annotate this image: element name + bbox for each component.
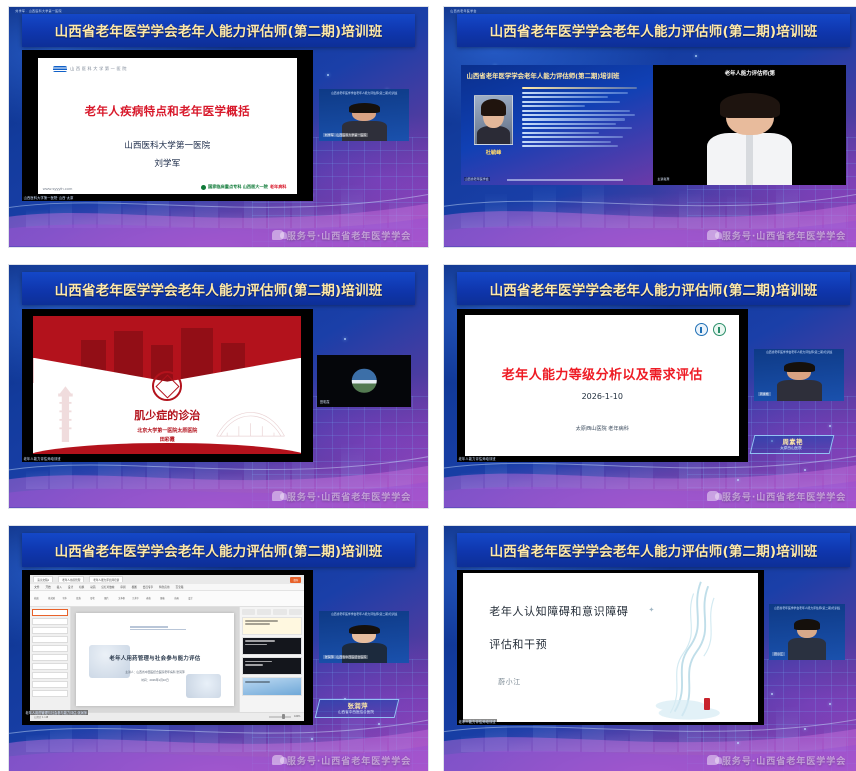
screen-share-label: 山西省老年医学会	[464, 177, 490, 181]
ribbon-button[interactable]: 设计	[188, 596, 195, 600]
slide-speaker: 刘学军	[38, 157, 297, 169]
presentation-slide: ✦ 老年人认知障碍和意识障碍 评估和干预 蔚小江	[463, 573, 758, 722]
camera-column[interactable]: 山西省老年医学学会老年人能力评估师(第二期)培训班 刘学军 · 山西医科大学第一…	[313, 50, 415, 201]
watermark: 服务号·山西省老年医学学会	[707, 229, 846, 242]
panel-banner: 山西省老年医学学会老年人能力评估师(第二期)培训班	[22, 533, 416, 566]
ppt-template-card[interactable]	[242, 637, 303, 655]
side-panel-tab[interactable]	[242, 609, 256, 615]
badge-org: 太原西山医院	[752, 446, 830, 451]
ppt-thumbnail[interactable]	[32, 618, 68, 625]
hair-shape	[349, 103, 380, 113]
ppt-menu-item[interactable]: 文件	[34, 585, 39, 589]
hospital-seal-icon	[152, 371, 182, 401]
screen-share-label: 老年人用药管理与社会参与能力评估 张润萍	[24, 710, 87, 715]
ppt-side-panel-header[interactable]	[242, 609, 303, 615]
torso-shape	[342, 121, 387, 141]
presentation-slide: 肌少症的诊治 北京大学第一医院太原医院 田彩霞	[33, 316, 301, 454]
ribbon-label: 格式刷	[48, 598, 55, 600]
panel-banner-text: 山西省老年医学学会老年人能力评估师(第二期)培训班	[55, 540, 383, 560]
presentation-slide: 山西医科大学第一医院 老年人疾病特点和老年医学概括 山西医科大学第一医院 刘学军…	[38, 58, 297, 194]
ppt-side-panel[interactable]	[239, 607, 305, 712]
ribbon-label: 字体	[62, 598, 66, 600]
participant-figure	[707, 96, 792, 185]
ribbon-button[interactable]: 表格	[146, 596, 153, 600]
ppt-menu-item[interactable]: 切换	[79, 585, 84, 589]
presentation-slide: 老年人能力等级分析以及需求评估 2026-1-10 太原西山医院 老年病科	[465, 315, 739, 456]
watermark: 服务号·山西省老年医学学会	[272, 229, 411, 242]
slide-header-org: 山西医科大学第一医院	[70, 66, 128, 72]
ppt-current-slide[interactable]: 老年人用药管理与社会参与能力评估 主讲人：山西省中西医结合医院老年病科 张润萍 …	[76, 613, 233, 705]
chat-bubble-icon	[707, 491, 719, 501]
ribbon-label: 动画	[174, 598, 178, 600]
ribbon-label: 粘贴	[34, 598, 38, 600]
screen-share-label: 山西医科大学第一医院·山西·太原	[23, 195, 75, 200]
torso-shape	[777, 380, 822, 400]
badge-name: 周素艳	[754, 437, 832, 446]
side-panel-tab[interactable]	[257, 609, 271, 615]
speaker-name: 杜毓峰	[472, 149, 514, 156]
camera-tile[interactable]: 山西省老年医学学会老年人能力评估师(第二期)培训班 刘学军 · 山西医科大学第一…	[313, 50, 415, 201]
panel-banner: 山西省老年医学学会老年人能力评估师(第二期)培训班	[22, 14, 416, 46]
ppt-menu-item[interactable]: 插入	[57, 585, 62, 589]
ppt-menu-item[interactable]: 百宝箱	[176, 585, 184, 589]
session-panel-2[interactable]: 山西省老年医学会 山西省老年医学学会老年人能力评估师(第二期)培训班 山西省老年…	[443, 6, 856, 248]
participant-figure	[776, 363, 823, 400]
ppt-thumbnail[interactable]	[32, 690, 68, 697]
side-panel-tab[interactable]	[273, 609, 287, 615]
ppt-template-card[interactable]	[242, 677, 303, 695]
card-text	[245, 681, 284, 684]
slide-speaker: 蔚小江	[498, 677, 521, 687]
session-panel-3[interactable]: 山西省老年医学学会老年人能力评估师(第二期)培训班	[8, 264, 429, 509]
ribbon-button[interactable]: 图表	[160, 596, 167, 600]
panel-banner: 山西省老年医学学会老年人能力评估师(第二期)培训班	[457, 14, 851, 46]
ppt-tab[interactable]: 老年人能力评估师培训	[89, 576, 123, 582]
ppt-thumbnail[interactable]	[32, 609, 68, 616]
camera-column[interactable]: 田彩霞	[313, 309, 415, 462]
screen-share-label: 老年人能力评估师培训班	[458, 719, 497, 724]
slide-title: 老年人能力等级分析以及需求评估	[465, 364, 739, 383]
video-name-tag: 田彩霞	[320, 399, 330, 404]
watermark-text: 服务号·山西省老年医学学会	[722, 754, 846, 767]
video-name-tag: 刘学军 · 山西医科大学第一医院	[323, 133, 369, 137]
slide-footer-credit-red: 老年病科	[270, 184, 287, 190]
ribbon-label: 表格	[146, 598, 150, 600]
panel-banner-text: 山西省老年医学学会老年人能力评估师(第二期)培训班	[55, 20, 383, 40]
video-caption: 山西省老年医学学会老年人能力评估师(第二期)培训班	[319, 91, 409, 95]
screen-share-label: 老年人能力评估师培训班	[23, 456, 62, 461]
ribbon-button[interactable]: 粘贴	[34, 596, 41, 600]
slide-footer-site: www.syyyfn.com	[43, 186, 73, 191]
watermark: 服务号·山西省老年医学学会	[272, 490, 411, 503]
ppt-tab[interactable]: 演示文稿1	[33, 576, 53, 582]
powerpoint-window[interactable]: 演示文稿1 老年人用药管理 老年人能力评估师培训 文件 开始 插入 设计 切换 …	[30, 575, 304, 721]
watermark: 服务号·山西省老年医学学会	[272, 754, 411, 767]
panel-banner: 山西省老年医学学会老年人能力评估师(第二期)培训班	[457, 272, 851, 305]
session-panel-4[interactable]: 山西省老年医学学会老年人能力评估师(第二期)培训班 老年人能力等级分析以及需求评…	[443, 264, 856, 509]
watermark-text: 服务号·山西省老年医学学会	[287, 229, 411, 242]
ppt-template-card[interactable]	[242, 617, 303, 635]
lab-coat-shape	[707, 133, 792, 185]
ppt-app[interactable]: 演示文稿1 老年人用药管理 老年人能力评估师培训 文件 开始 插入 设计 切换 …	[30, 575, 304, 721]
ppt-thumbnail[interactable]	[32, 627, 68, 634]
video-name-tag: 蔚小江	[772, 652, 785, 656]
slide-date: 时间：2026年1月10日	[76, 678, 233, 682]
hair-shape	[349, 625, 380, 635]
slide-org: 太原西山医院 老年病科	[465, 425, 739, 432]
chat-bubble-icon	[707, 755, 719, 765]
ppt-menu-item[interactable]: 幻灯片放映	[101, 585, 114, 589]
watermark-text: 服务号·山西省老年医学学会	[722, 229, 846, 242]
participant-avatar	[352, 368, 376, 392]
ribbon-button[interactable]: 动画	[174, 596, 181, 600]
panel-banner: 山西省老年医学学会老年人能力评估师(第二期)培训班	[22, 272, 416, 305]
watermark-text: 服务号·山西省老年医学学会	[722, 490, 846, 503]
ribbon-button[interactable]: 图片	[104, 596, 111, 600]
screen-share-label: 老年人能力评估师培训班	[458, 456, 497, 461]
ribbon-button[interactable]: 形状	[90, 596, 97, 600]
panel-banner-text: 山西省老年医学学会老年人能力评估师(第二期)培训班	[490, 20, 818, 40]
panel-banner-text: 山西省老年医学学会老年人能力评估师(第二期)培训班	[490, 279, 818, 299]
water-ink-illustration	[592, 576, 757, 722]
ribbon-label: 艺术字	[132, 598, 139, 600]
hair-shape	[720, 93, 779, 118]
video-caption: 老年人能力评估师(第	[653, 69, 846, 77]
slide-date: 2026-1-10	[465, 392, 739, 401]
speaker-name-badge: 周素艳 太原西山医院	[750, 435, 835, 454]
ribbon-button[interactable]: 格式刷	[48, 596, 55, 600]
speaker-photo	[474, 95, 513, 145]
shared-screen[interactable]: 演示文稿1 老年人用药管理 老年人能力评估师培训 文件 开始 插入 设计 切换 …	[22, 570, 313, 725]
ribbon-label: 段落	[76, 598, 80, 600]
ribbon-button[interactable]: 段落	[76, 596, 83, 600]
panel-banner-text: 山西省老年医学学会老年人能力评估师(第二期)培训班	[490, 540, 818, 560]
camera-tile[interactable]: 山西省老年医学学会老年人能力评估师(第二期)培训班 蔚小江	[764, 570, 851, 725]
camera-column[interactable]: 老年人能力评估师(第 主讲嘉宾	[653, 65, 846, 185]
panel-grid: 刘学军 · 山西医科大学第一医院 山西省老年医学学会老年人能力评估师(第二期)培…	[0, 0, 856, 771]
photo-torso	[477, 126, 509, 144]
slide-logos	[695, 323, 726, 336]
panel-banner: 山西省老年医学学会老年人能力评估师(第二期)培训班	[457, 533, 851, 566]
shared-screen[interactable]: 肌少症的诊治 北京大学第一医院太原医院 田彩霞 老年人能力评估师培训班	[22, 309, 313, 462]
ppt-slide-thumbnails[interactable]	[30, 607, 71, 712]
intro-slide-title: 山西省老年医学学会老年人能力评估师(第二期)培训班	[467, 71, 648, 80]
camera-column[interactable]: 山西省老年医学学会老年人能力评估师(第二期)培训班 蔚小江	[764, 570, 851, 725]
card-text	[245, 620, 284, 626]
video-feed[interactable]: 山西省老年医学学会老年人能力评估师(第二期)培训班 周素艳	[754, 349, 844, 401]
video-feed[interactable]: 山西省老年医学学会老年人能力评估师(第二期)培训班 张润萍 · 山西省中西医结合…	[319, 611, 409, 664]
ppt-thumbnail[interactable]	[32, 672, 68, 679]
ppt-ribbon[interactable]: 粘贴 格式刷 字体 段落 形状 图片 文本框 艺术字 表格 图表 动画 设计	[30, 591, 304, 607]
speaker-name-badge: 张润萍 山西省中西医结合医院	[315, 699, 400, 718]
panel-stage: ✦ 老年人认知障碍和意识障碍 评估和干预 蔚小江 老年人能力评估师培训班 山西省…	[457, 570, 851, 725]
slide-org: 山西医科大学第一医院	[38, 139, 297, 151]
ribbon-label: 图片	[104, 598, 108, 600]
video-caption: 山西省老年医学学会老年人能力评估师(第二期)培训班	[754, 350, 844, 354]
slide-org: 北京大学第一医院太原医院	[33, 427, 301, 434]
panel-corner-tag: 刘学军 · 山西医科大学第一医院	[15, 9, 61, 13]
session-panel-1[interactable]: 刘学军 · 山西医科大学第一医院 山西省老年医学学会老年人能力评估师(第二期)培…	[8, 6, 429, 248]
slide-title-line1: 老年人认知障碍和意识障碍	[489, 603, 628, 619]
slide-title: 肌少症的诊治	[33, 407, 301, 423]
ppt-tab-bar[interactable]: 演示文稿1 老年人用药管理 老年人能力评估师培训	[30, 575, 304, 584]
panel-stage: 老年人能力等级分析以及需求评估 2026-1-10 太原西山医院 老年病科 老年…	[457, 309, 851, 462]
video-name-tag: 周素艳	[758, 392, 771, 396]
ppt-thumbnail[interactable]	[32, 663, 68, 670]
panel-stage: 山西医科大学第一医院 老年人疾病特点和老年医学概括 山西医科大学第一医院 刘学军…	[22, 50, 416, 201]
ppt-thumbnail[interactable]	[32, 654, 68, 661]
ppt-menu-item[interactable]: 开始	[45, 585, 50, 589]
shared-screen[interactable]: ✦ 老年人认知障碍和意识障碍 评估和干预 蔚小江 老年人能力评估师培训班	[457, 570, 764, 725]
participant-figure	[787, 620, 827, 660]
ribbon-label: 图表	[160, 598, 164, 600]
hair-shape	[794, 619, 820, 629]
ribbon-label: 文本框	[118, 598, 125, 600]
slide-presenter: 主讲人：山西省中西医结合医院老年病科 张润萍	[76, 670, 233, 674]
panel-banner-text: 山西省老年医学学会老年人能力评估师(第二期)培训班	[55, 279, 383, 299]
slide-title: 老年人疾病特点和老年医学概括	[38, 103, 297, 119]
ppt-save-button[interactable]: 保存	[290, 577, 301, 583]
ribbon-button[interactable]: 字体	[62, 596, 69, 600]
ribbon-label: 形状	[90, 598, 94, 600]
panel-stage: 肌少症的诊治 北京大学第一医院太原医院 田彩霞 老年人能力评估师培训班 田彩霞	[22, 309, 416, 462]
card-text	[245, 640, 284, 646]
session-panel-6[interactable]: 山西省老年医学学会老年人能力评估师(第二期)培训班	[443, 525, 856, 771]
ppt-menu-item[interactable]: 设计	[68, 585, 73, 589]
watermark: 服务号·山西省老年医学学会	[707, 490, 846, 503]
ribbon-label: 设计	[188, 598, 192, 600]
slide-logo-header	[130, 626, 193, 633]
society-logo-icon	[713, 323, 726, 336]
ppt-template-card[interactable]	[242, 657, 303, 675]
badge-org: 山西省中西医结合医院	[317, 710, 395, 715]
shared-screen[interactable]: 老年人能力等级分析以及需求评估 2026-1-10 太原西山医院 老年病科 老年…	[457, 309, 748, 462]
cognition-slide: ✦ 老年人认知障碍和意识障碍 评估和干预 蔚小江	[463, 573, 758, 722]
seal-icon	[201, 185, 206, 190]
seal-icon	[704, 698, 710, 710]
shared-screen[interactable]: 山西省老年医学学会老年人能力评估师(第二期)培训班 杜毓峰	[461, 65, 654, 185]
zoom-slider[interactable]	[269, 716, 291, 718]
badge-name: 张润萍	[319, 701, 397, 710]
ppt-menu-item[interactable]: 审阅	[120, 585, 125, 589]
slide-title-line2: 评估和干预	[489, 636, 547, 652]
hospital-logo-icon	[695, 323, 708, 336]
chat-bubble-icon	[272, 755, 284, 765]
ppt-menu-item[interactable]: 视图	[132, 585, 137, 589]
intro-slide: 山西省老年医学学会老年人能力评估师(第二期)培训班 杜毓峰	[461, 65, 654, 185]
watermark: 服务号·山西省老年医学学会	[707, 754, 846, 767]
card-text	[245, 661, 284, 667]
ppt-tab[interactable]: 老年人用药管理	[58, 576, 84, 582]
ppt-thumbnail[interactable]	[32, 645, 68, 652]
camera-column[interactable]: 山西省老年医学学会老年人能力评估师(第二期)培训班 张润萍 · 山西省中西医结合…	[313, 570, 415, 725]
camera-column[interactable]: 山西省老年医学学会老年人能力评估师(第二期)培训班 周素艳 周素艳 太原西山医院	[748, 309, 850, 462]
ppt-thumbnail[interactable]	[32, 681, 68, 688]
video-feed[interactable]: 山西省老年医学学会老年人能力评估师(第二期)培训班 蔚小江	[769, 604, 845, 660]
ppt-thumbnail[interactable]	[32, 636, 68, 643]
video-feed[interactable]: 山西省老年医学学会老年人能力评估师(第二期)培训班 刘学军 · 山西医科大学第一…	[319, 89, 409, 140]
video-name-tag: 主讲嘉宾	[657, 177, 669, 181]
watermark-text: 服务号·山西省老年医学学会	[287, 490, 411, 503]
intro-slide-footer	[507, 179, 623, 181]
slide-title: 老年人用药管理与社会参与能力评估	[76, 654, 233, 662]
zoom-level: 100%	[294, 715, 300, 718]
ribbon-button[interactable]: 文本框	[118, 596, 125, 600]
ppt-slide-counter: 幻灯片 1 / 28	[34, 715, 48, 719]
ribbon-button[interactable]: 艺术字	[132, 596, 139, 600]
grading-slide: 老年人能力等级分析以及需求评估 2026-1-10 太原西山医院 老年病科	[465, 315, 739, 456]
wave-logo-icon	[53, 66, 67, 72]
video-name-tag: 张润萍 · 山西省中西医结合医院	[323, 655, 369, 659]
chat-bubble-icon	[272, 491, 284, 501]
ppt-menu-item[interactable]: 特色应用	[159, 585, 169, 589]
star-icon: ✦	[648, 606, 654, 614]
video-feed[interactable]: 老年人能力评估师(第 主讲嘉宾	[653, 65, 846, 185]
ppt-canvas[interactable]: 老年人用药管理与社会参与能力评估 主讲人：山西省中西医结合医院老年病科 张润萍 …	[71, 607, 238, 712]
video-caption: 山西省老年医学学会老年人能力评估师(第二期)培训班	[319, 612, 409, 616]
chat-bubble-icon	[707, 230, 719, 240]
muscle-slide: 肌少症的诊治 北京大学第一医院太原医院 田彩霞	[33, 316, 301, 454]
shared-screen[interactable]: 山西医科大学第一医院 老年人疾病特点和老年医学概括 山西医科大学第一医院 刘学军…	[22, 50, 313, 201]
slide-logo-header: 山西医科大学第一医院	[53, 65, 203, 75]
chat-bubble-icon	[272, 230, 284, 240]
torso-shape	[788, 638, 826, 660]
video-caption: 山西省老年医学学会老年人能力评估师(第二期)培训班	[769, 606, 845, 610]
side-panel-tab[interactable]	[289, 609, 303, 615]
ppt-menu-item[interactable]: 会员专享	[143, 585, 153, 589]
hair-shape	[784, 362, 815, 372]
torso-shape	[342, 643, 387, 663]
ppt-zoom-control[interactable]: 100%	[269, 715, 300, 718]
panel-stage: 山西省老年医学学会老年人能力评估师(第二期)培训班 杜毓峰	[461, 65, 846, 185]
watermark-text: 服务号·山西省老年医学学会	[287, 754, 411, 767]
ppt-menu-bar[interactable]: 文件 开始 插入 设计 切换 动画 幻灯片放映 审阅 视图 会员专享 特色应用 …	[30, 584, 304, 591]
panel-corner-tag: 山西省老年医学会	[450, 9, 476, 13]
session-panel-5[interactable]: 山西省老年医学学会老年人能力评估师(第二期)培训班 演示文稿1 老年人用药管理 …	[8, 525, 429, 771]
camera-tile[interactable]: 田彩霞	[317, 355, 411, 407]
photo-hair	[481, 99, 506, 115]
panel-stage: 演示文稿1 老年人用药管理 老年人能力评估师培训 文件 开始 插入 设计 切换 …	[22, 570, 416, 725]
ppt-menu-item[interactable]: 动画	[90, 585, 95, 589]
slide-footer-credit-text: 国家临床重点专科 山西医大一院	[208, 184, 268, 190]
slide-footer-credit: 国家临床重点专科 山西医大一院 老年病科	[201, 184, 287, 190]
bio-text-lines	[522, 87, 641, 149]
